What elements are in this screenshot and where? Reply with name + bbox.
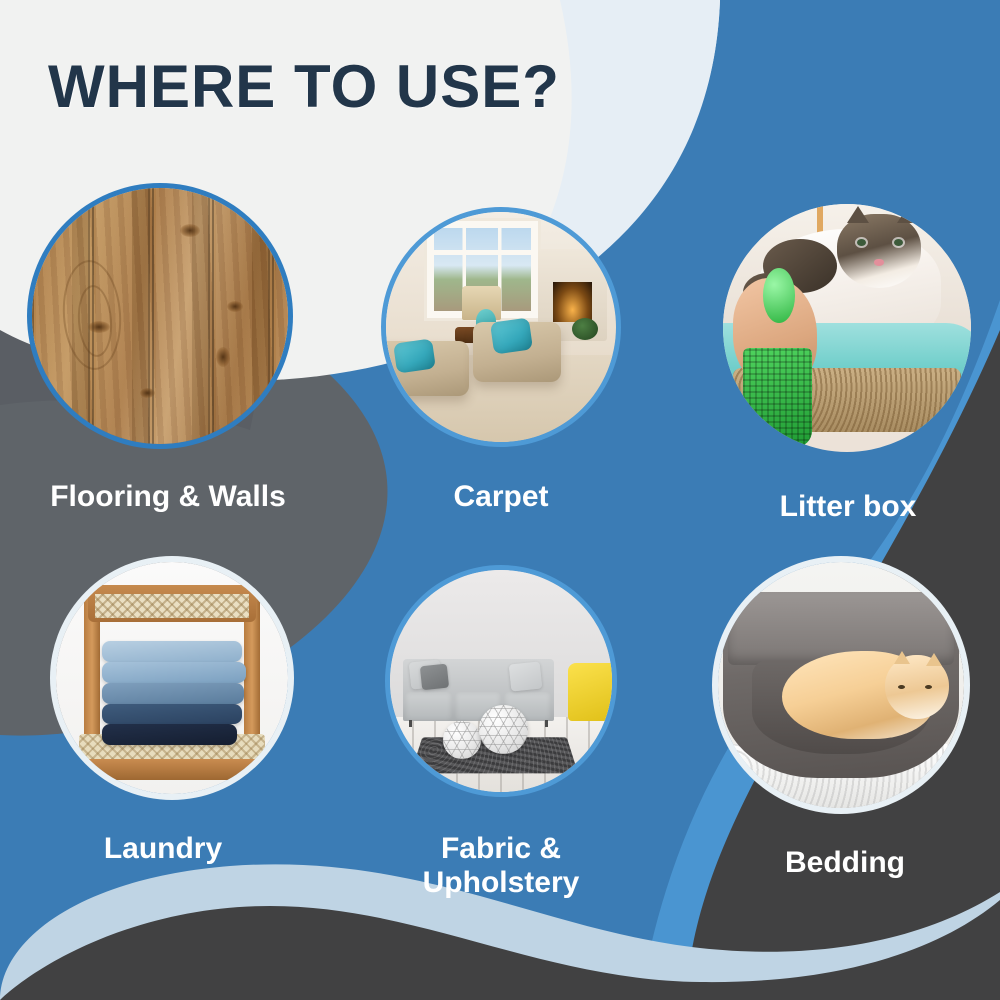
usage-item-flooring-walls[interactable]: Flooring & Walls bbox=[18, 188, 318, 548]
usage-item-laundry[interactable]: Laundry bbox=[18, 562, 308, 914]
flooring-walls-image bbox=[32, 188, 288, 444]
infographic-canvas: WHERE TO USE? Flooring & Walls bbox=[0, 0, 1000, 1000]
flooring-walls-label: Flooring & Walls bbox=[18, 480, 318, 514]
litter-box-image bbox=[723, 204, 971, 452]
cat-in-pet-bed-photo bbox=[718, 562, 964, 808]
laundry-image bbox=[56, 562, 288, 794]
gray-sofa-living-room-photo bbox=[390, 570, 612, 792]
usage-item-bedding[interactable]: Bedding bbox=[700, 562, 990, 914]
usage-items-grid: Flooring & Walls Carpet bbox=[0, 0, 1000, 1000]
fabric-upholstery-label: Fabric & Upholstery bbox=[366, 832, 636, 899]
bedding-image bbox=[718, 562, 964, 808]
bedding-label: Bedding bbox=[700, 846, 990, 880]
fabric-upholstery-image bbox=[390, 570, 612, 792]
usage-item-litter-box[interactable]: Litter box bbox=[708, 204, 988, 548]
wood-plank-floor-photo bbox=[32, 188, 288, 444]
laundry-label: Laundry bbox=[18, 832, 308, 866]
usage-item-carpet[interactable]: Carpet bbox=[366, 212, 636, 548]
carpet-label: Carpet bbox=[366, 480, 636, 514]
usage-item-fabric-upholstery[interactable]: Fabric & Upholstery bbox=[366, 570, 636, 930]
carpet-image bbox=[386, 212, 616, 442]
living-room-carpet-photo bbox=[386, 212, 616, 442]
litter-box-label: Litter box bbox=[708, 490, 988, 524]
folded-jeans-on-chair-photo bbox=[56, 562, 288, 794]
cat-litter-box-scoop-photo bbox=[723, 204, 971, 452]
